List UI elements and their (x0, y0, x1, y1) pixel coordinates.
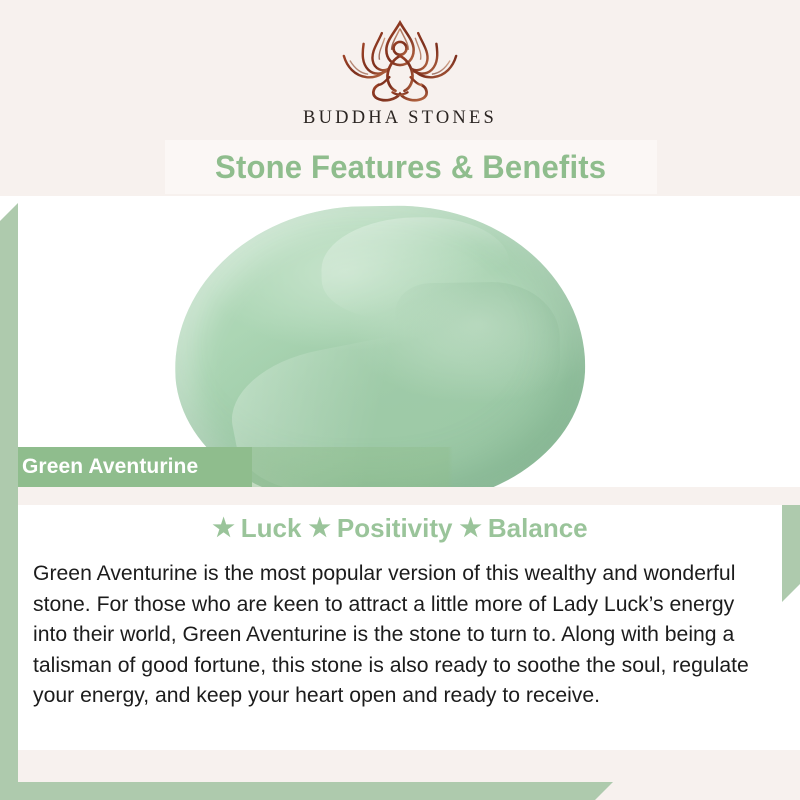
stone-name-label: Green Aventurine (22, 447, 198, 487)
keyword-label: Luck (241, 513, 302, 544)
star-icon: ★ (308, 516, 330, 541)
star-icon: ★ (212, 516, 234, 541)
brand-name: BUDDHA STONES (303, 108, 497, 129)
keyword-label: Balance (488, 513, 588, 544)
header-block: BUDDHA STONES Stone Features & Benefits (0, 0, 800, 196)
keyword-label: Positivity (337, 513, 453, 544)
section-title-banner: Stone Features & Benefits (165, 140, 657, 194)
cream-divider-strip (0, 487, 800, 505)
frame-left-overlay (0, 203, 18, 782)
star-icon: ★ (459, 516, 481, 541)
keyword-item-luck: ★ Luck (212, 513, 301, 544)
brand-logo: BUDDHA STONES (0, 18, 800, 129)
keyword-item-positivity: ★ Positivity (308, 513, 452, 544)
stone-description: Green Aventurine is the most popular ver… (33, 558, 760, 711)
keyword-list: ★ Luck ★ Positivity ★ Balance (0, 513, 800, 544)
keyword-item-balance: ★ Balance (459, 513, 587, 544)
frame-bottom-left-overlay (0, 782, 613, 800)
lotus-meditation-icon (324, 18, 476, 106)
infographic-page: BUDDHA STONES Stone Features & Benefits … (0, 0, 800, 800)
page-title: Stone Features & Benefits (215, 149, 606, 186)
